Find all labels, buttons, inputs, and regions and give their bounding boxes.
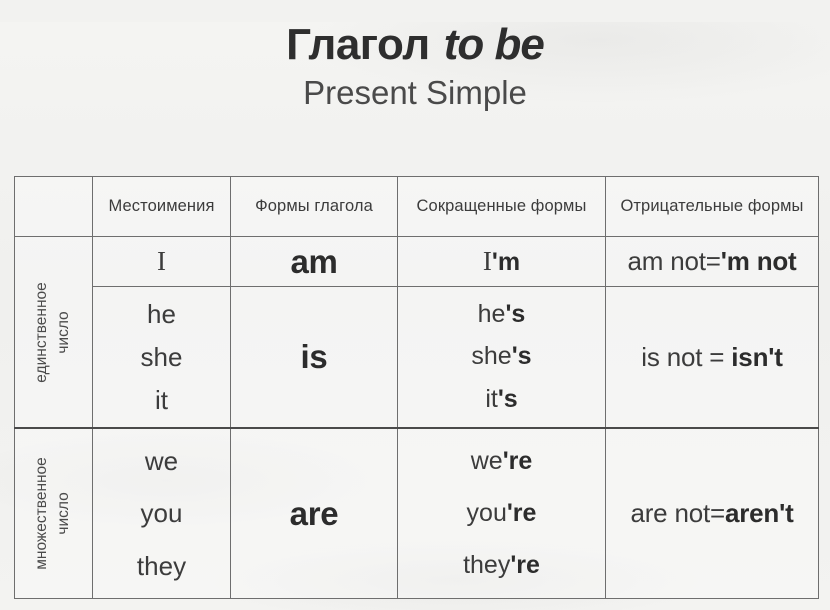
column-header-negative-forms: Отрицательные формы bbox=[606, 177, 819, 237]
short-form-im: I'm bbox=[483, 248, 520, 276]
column-header-pronouns: Местоимения bbox=[93, 177, 231, 237]
short-form-hes-suffix: 's bbox=[505, 300, 525, 328]
negative-form-are-not: are not=aren't bbox=[630, 498, 793, 528]
title-latin-verb: to be bbox=[444, 20, 544, 69]
cell-verb-form-is: is bbox=[231, 287, 398, 429]
singular-label-line-1: единственное bbox=[31, 282, 53, 382]
row-group-label-plural: множественное число bbox=[15, 428, 93, 599]
cell-negative-is-not: is not = isn't bbox=[606, 287, 819, 429]
negative-am-not-bold: 'm not bbox=[721, 246, 797, 276]
short-form-hes: he's bbox=[398, 302, 605, 327]
short-form-im-suffix: 'm bbox=[492, 248, 520, 276]
plural-label-line-2: число bbox=[54, 457, 76, 570]
pronoun-he: he bbox=[93, 301, 230, 327]
short-form-shes: she's bbox=[398, 344, 605, 369]
short-form-theyre: they're bbox=[398, 553, 605, 578]
page-subtitle: Present Simple bbox=[0, 76, 830, 111]
cell-pronoun-i: I bbox=[93, 237, 231, 287]
short-form-theyre-stem: they bbox=[463, 551, 510, 579]
column-header-verb-forms: Формы глагола bbox=[231, 177, 398, 237]
short-form-were-stem: we bbox=[471, 447, 503, 475]
verb-to-be-table: Местоимения Формы глагола Сокращенные фо… bbox=[14, 176, 819, 599]
page-title: Глаголto be bbox=[0, 22, 830, 68]
table-header-row: Местоимения Формы глагола Сокращенные фо… bbox=[15, 177, 819, 237]
column-header-number bbox=[15, 177, 93, 237]
cell-negative-are-not: are not=aren't bbox=[606, 428, 819, 599]
negative-are-not-plain: are not= bbox=[630, 498, 725, 528]
negative-form-is-not: is not = isn't bbox=[641, 342, 782, 372]
verb-form-am: am bbox=[290, 243, 337, 280]
cell-negative-am-not: am not='m not bbox=[606, 237, 819, 287]
table-row-plural: множественное число we you they bbox=[15, 428, 819, 599]
cell-verb-form-am: am bbox=[231, 237, 398, 287]
short-form-youre-suffix: 're bbox=[507, 499, 537, 527]
verb-to-be-table-wrapper: Местоимения Формы глагола Сокращенные фо… bbox=[14, 176, 818, 595]
cell-pronouns-he-she-it: he she it bbox=[93, 287, 231, 429]
short-form-its-stem: it bbox=[485, 385, 498, 413]
short-form-youre-stem: you bbox=[467, 499, 507, 527]
pronoun-they: they bbox=[93, 553, 230, 579]
short-form-were-suffix: 're bbox=[503, 447, 533, 475]
short-form-shes-suffix: 's bbox=[512, 342, 532, 370]
short-form-theyre-suffix: 're bbox=[510, 551, 540, 579]
pronoun-it: it bbox=[93, 387, 230, 413]
cell-pronouns-we-you-they: we you they bbox=[93, 428, 231, 599]
title-russian-word: Глагол bbox=[286, 20, 430, 69]
table-row-singular-heshit: he she it is he's she's it's bbox=[15, 287, 819, 429]
verb-form-are: are bbox=[290, 495, 339, 532]
singular-label-line-2: число bbox=[54, 282, 76, 382]
row-group-label-singular: единственное число bbox=[15, 237, 93, 429]
negative-am-not-plain: am not= bbox=[627, 246, 720, 276]
pronoun-i: I bbox=[157, 246, 166, 276]
plural-label-line-1: множественное bbox=[31, 457, 53, 570]
table-row-singular-i: единственное число I am I'm bbox=[15, 237, 819, 287]
short-form-youre: you're bbox=[398, 501, 605, 526]
column-header-short-forms: Сокращенные формы bbox=[398, 177, 606, 237]
short-form-were: we're bbox=[398, 449, 605, 474]
pronoun-you: you bbox=[93, 500, 230, 526]
pronoun-we: we bbox=[93, 448, 230, 474]
worksheet-page: Глаголto be Present Simple Местоимения Ф… bbox=[0, 22, 830, 111]
cell-short-form-im: I'm bbox=[398, 237, 606, 287]
negative-is-not-plain: is not = bbox=[641, 342, 731, 372]
pronoun-she: she bbox=[93, 344, 230, 370]
cell-short-forms-is: he's she's it's bbox=[398, 287, 606, 429]
cell-verb-form-are: are bbox=[231, 428, 398, 599]
short-form-its-suffix: 's bbox=[498, 385, 518, 413]
negative-is-not-bold: isn't bbox=[731, 342, 782, 372]
cell-short-forms-are: we're you're they're bbox=[398, 428, 606, 599]
negative-are-not-bold: aren't bbox=[725, 498, 794, 528]
verb-form-is: is bbox=[301, 338, 328, 375]
short-form-im-stem: I bbox=[483, 246, 492, 276]
short-form-its: it's bbox=[398, 387, 605, 412]
negative-form-am-not: am not='m not bbox=[627, 246, 796, 276]
short-form-shes-stem: she bbox=[471, 342, 511, 370]
short-form-hes-stem: he bbox=[478, 300, 506, 328]
